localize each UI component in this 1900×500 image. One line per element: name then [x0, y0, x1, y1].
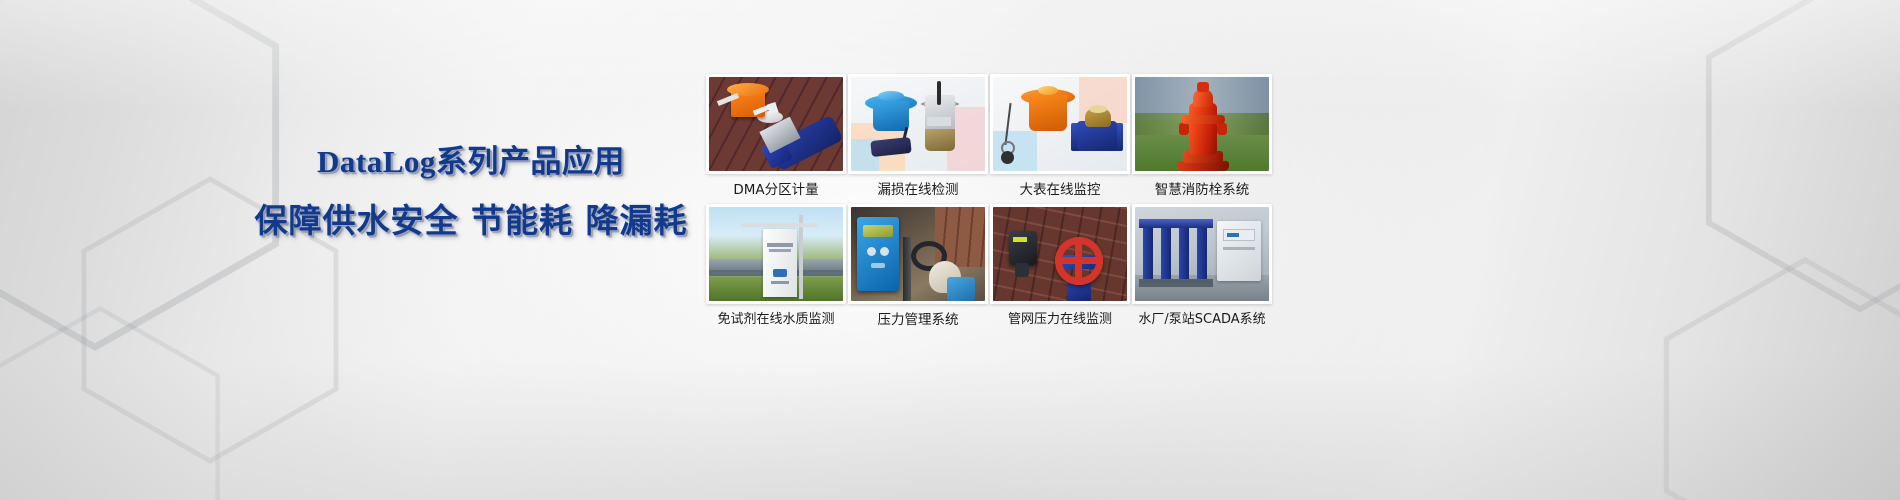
- product-label: 水厂/泵站SCADA系统: [1138, 312, 1265, 328]
- product-label: 管网压力在线监测: [1008, 312, 1112, 328]
- product-card-pressure-management[interactable]: 压力管理系统: [848, 204, 988, 328]
- network-pressure-photo: [993, 207, 1127, 301]
- dma-metering-photo: [709, 77, 843, 171]
- product-label: 免试剂在线水质监测: [717, 312, 834, 328]
- product-card-network-pressure[interactable]: 管网压力在线监测: [990, 204, 1130, 328]
- product-grid: DMA分区计量 漏损在线检测: [706, 74, 1272, 328]
- product-label: 大表在线监控: [1020, 182, 1101, 198]
- hexagon-icon: [1680, 0, 1900, 320]
- product-card-scada-system[interactable]: 水厂/泵站SCADA系统: [1132, 204, 1272, 328]
- headline-line-1: DataLog系列产品应用: [236, 140, 706, 184]
- hexagon-icon: [0, 300, 240, 500]
- reagent-free-quality-photo: [709, 207, 843, 301]
- product-card-large-meter-monitor[interactable]: 大表在线监控: [990, 74, 1130, 198]
- product-thumbnail[interactable]: [990, 74, 1130, 174]
- product-thumbnail[interactable]: [1132, 74, 1272, 174]
- product-card-leak-online-detection[interactable]: 漏损在线检测: [848, 74, 988, 198]
- pressure-management-photo: [851, 207, 985, 301]
- product-thumbnail[interactable]: [848, 74, 988, 174]
- headline-line-2: 保障供水安全 节能耗 降漏耗: [236, 198, 706, 244]
- leak-online-detection-photo: [851, 77, 985, 171]
- product-label: 漏损在线检测: [878, 182, 959, 198]
- product-label: 智慧消防栓系统: [1155, 182, 1250, 198]
- product-label: DMA分区计量: [733, 182, 818, 198]
- product-card-reagent-free-quality[interactable]: 免试剂在线水质监测: [706, 204, 846, 328]
- hexagon-icon: [1640, 250, 1900, 500]
- product-card-dma-metering[interactable]: DMA分区计量: [706, 74, 846, 198]
- large-meter-monitor-photo: [993, 77, 1127, 171]
- product-label: 压力管理系统: [878, 312, 959, 328]
- promo-banner: DataLog系列产品应用 保障供水安全 节能耗 降漏耗 DMA分区计量: [0, 0, 1900, 500]
- product-thumbnail[interactable]: [1132, 204, 1272, 304]
- product-thumbnail[interactable]: [848, 204, 988, 304]
- product-thumbnail[interactable]: [706, 74, 846, 174]
- smart-hydrant-system-photo: [1135, 77, 1269, 171]
- product-thumbnail[interactable]: [706, 204, 846, 304]
- product-thumbnail[interactable]: [990, 204, 1130, 304]
- product-card-smart-hydrant-system[interactable]: 智慧消防栓系统: [1132, 74, 1272, 198]
- scada-system-photo: [1135, 207, 1269, 301]
- banner-headline: DataLog系列产品应用 保障供水安全 节能耗 降漏耗: [236, 140, 706, 244]
